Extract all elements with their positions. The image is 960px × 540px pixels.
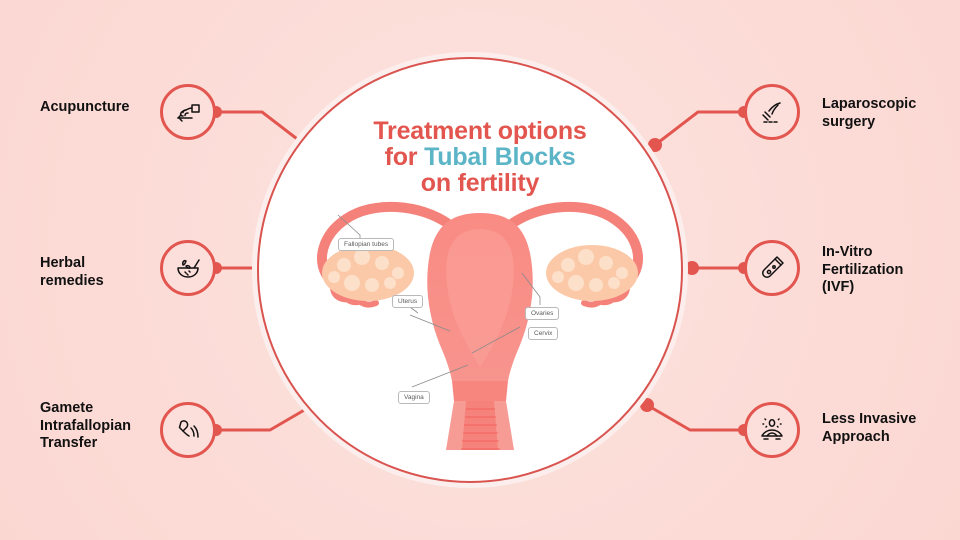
spoke-icon-acupuncture[interactable]	[160, 84, 216, 140]
page-title: Treatment options for Tubal Blocks on fe…	[330, 118, 630, 196]
wire-less-invasive	[647, 405, 744, 430]
spoke-icon-ivf[interactable]	[744, 240, 800, 296]
mortar-bowl-herbs-icon	[172, 252, 204, 284]
ovary-left	[322, 245, 414, 301]
spoke-label-gamete-intrafallopian-transfer: Gamete Intrafallopian Transfer	[40, 400, 160, 453]
spoke-icon-laparoscopic-surgery[interactable]	[744, 84, 800, 140]
fallopian-tubes-label: Fallopian tubes	[338, 238, 394, 251]
uterus-label: Uterus	[392, 295, 423, 308]
uterus-diagram: Fallopian tubes Uterus Ovaries Cervix Va…	[300, 195, 660, 450]
spoke-label-acupuncture: Acupuncture	[40, 99, 150, 117]
pipette-sperm-icon	[172, 414, 204, 446]
title-line-2: for Tubal Blocks	[330, 144, 630, 170]
spoke-label-herbal-remedies: Herbal remedies	[40, 255, 155, 290]
spoke-icon-less-invasive-approach[interactable]	[744, 402, 800, 458]
title-line-2-prefix: for	[385, 143, 424, 171]
spoke-label-ivf: In-Vitro Fertilization (IVF)	[822, 244, 952, 297]
ovaries-label: Ovaries	[525, 307, 559, 320]
minimal-incision-icon	[756, 414, 788, 446]
vagina-label: Vagina	[398, 391, 430, 404]
wire-acupuncture	[216, 112, 305, 145]
spoke-label-less-invasive-approach: Less Invasive Approach	[822, 411, 957, 446]
title-accent-tubal-blocks: Tubal Blocks	[424, 143, 575, 171]
test-tube-icon	[756, 252, 788, 284]
title-line-3: on fertility	[330, 170, 630, 196]
title-line-1: Treatment options	[330, 118, 630, 144]
infographic-canvas: Treatment options for Tubal Blocks on fe…	[0, 0, 960, 540]
ovary-right	[546, 245, 638, 301]
acupuncture-hand-needle-icon	[172, 96, 204, 128]
wire-laparoscopic	[655, 112, 744, 145]
spoke-icon-gamete-intrafallopian-transfer[interactable]	[160, 402, 216, 458]
spoke-icon-herbal-remedies[interactable]	[160, 240, 216, 296]
spoke-label-laparoscopic-surgery: Laparoscopic surgery	[822, 96, 952, 131]
scalpel-incision-icon	[756, 96, 788, 128]
cervix-label: Cervix	[528, 327, 558, 340]
wire-gift	[216, 405, 313, 430]
